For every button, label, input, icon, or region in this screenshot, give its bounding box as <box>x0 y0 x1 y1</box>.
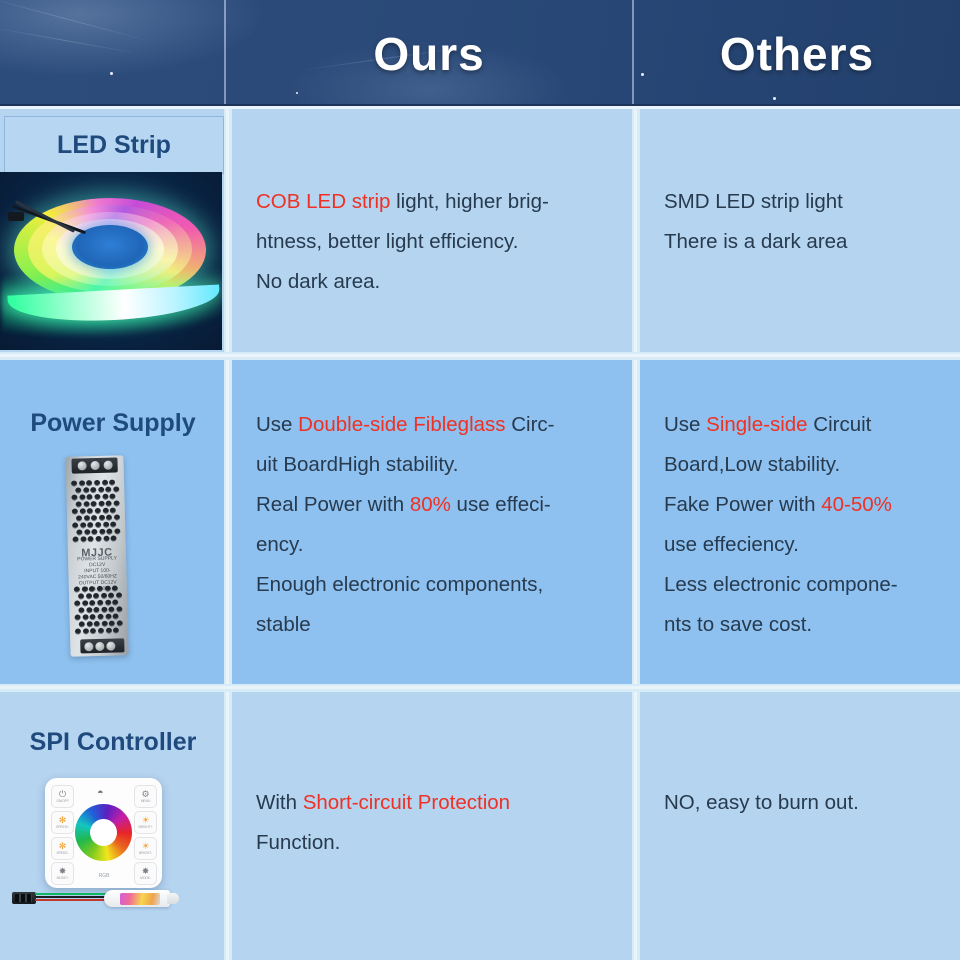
cob-led-strip-reel-photo <box>0 172 222 350</box>
text-line: htness, better light efficiency. <box>256 222 628 262</box>
psu-vent-hole <box>79 621 85 627</box>
header-cell-feature <box>0 0 224 108</box>
panel-button-mode-up[interactable]: ✸ MODE+ <box>51 862 74 885</box>
psu-vent-hole <box>71 480 77 486</box>
speed-icon: ✻ <box>59 842 67 851</box>
psu-vent-hole <box>99 515 105 521</box>
psu-vent-hole <box>102 494 108 500</box>
psu-screw <box>106 642 115 651</box>
psu-vent-hole <box>98 614 104 620</box>
psu-vent-hole <box>116 592 122 598</box>
psu-vent-hole <box>113 627 119 633</box>
panel-button-bright-up[interactable]: ☀ BRIGHT+ <box>134 811 157 834</box>
text-line: nts to save cost. <box>664 605 960 645</box>
psu-vent-hole <box>90 614 96 620</box>
wifi-icon: ◓ <box>97 788 104 799</box>
psu-input-terminal <box>71 457 117 473</box>
text-line: SMD LED strip light <box>664 182 956 222</box>
psu-vent-hole <box>98 487 104 493</box>
mini-controller-body <box>104 890 170 907</box>
psu-vent-hole <box>72 508 78 514</box>
psu-vent-hole <box>112 599 118 605</box>
psu-vent-hole <box>99 529 105 535</box>
psu-vent-hole <box>88 522 94 528</box>
psu-vent-top <box>71 479 120 544</box>
psu-screw <box>84 642 93 651</box>
psu-vent-hole <box>87 494 93 500</box>
psu-vent-hole <box>78 593 84 599</box>
header-ours-label: Ours <box>373 27 484 81</box>
wire-red <box>35 899 107 901</box>
psu-vent-hole <box>74 586 80 592</box>
rgb-wheel-label: RGB <box>89 873 119 879</box>
psu-vent-hole <box>105 614 111 620</box>
psu-vent-hole <box>75 614 81 620</box>
psu-vent-hole <box>112 585 118 591</box>
psu-vent-hole <box>80 522 86 528</box>
psu-vent-hole <box>95 508 101 514</box>
row-3-others-bg <box>640 692 960 960</box>
row-2-ours-text: Use Double-side Fibleglass Circ- uit Boa… <box>256 405 628 645</box>
psu-vent-hole <box>84 515 90 521</box>
psu-vent-hole <box>83 501 89 507</box>
psu-vent-hole <box>94 607 100 613</box>
mjjc-slim-power-supply-photo: MJJC POWER SUPPLY DC12V INPUT 100-240VAC… <box>65 455 128 656</box>
header-cell-others: Others <box>634 0 960 108</box>
header-others-label: Others <box>720 27 874 81</box>
psu-vent-hole <box>114 500 120 506</box>
psu-vent-hole <box>79 480 85 486</box>
wire-black <box>35 896 107 898</box>
row-label-spi-controller: SPI Controller <box>4 718 222 766</box>
text-line: Use Single-side Circuit <box>664 405 960 445</box>
row-label-text: LED Strip <box>57 131 171 160</box>
text-line: There is a dark area <box>664 222 956 262</box>
psu-vent-hole <box>72 522 78 528</box>
text-line: use effeciency. <box>664 525 960 565</box>
psu-vent-hole <box>106 501 112 507</box>
psu-vent-hole <box>98 628 104 634</box>
psu-vent-hole <box>109 607 115 613</box>
row-label-text: Power Supply <box>30 409 195 438</box>
comparison-table: Ours Others LED Strip COB LED stri <box>0 0 960 960</box>
psu-vent-hole <box>114 514 120 520</box>
psu-vent-hole <box>101 607 107 613</box>
psu-vent-hole <box>76 529 82 535</box>
psu-vent-hole <box>86 621 92 627</box>
psu-vent-hole <box>110 507 116 513</box>
text-line: No dark area. <box>256 262 628 302</box>
psu-vent-hole <box>86 480 92 486</box>
row-1-others-text: SMD LED strip light There is a dark area <box>664 182 956 262</box>
psu-vent-hole <box>90 628 96 634</box>
psu-vent-hole <box>110 521 116 527</box>
psu-vent-hole <box>91 501 97 507</box>
psu-vent-hole <box>104 586 110 592</box>
spi-rgb-touch-panel-and-inline-controller-photo: ◓ RGB ⏻ ON/OFF ⚙ MENU ✻ SPEED+ ☀ BRIGHT+… <box>0 770 222 960</box>
psu-vent-hole <box>75 628 81 634</box>
text-line: Enough electronic components, <box>256 565 628 605</box>
brightness-icon: ☀ <box>141 842 149 851</box>
psu-vent-hole <box>82 600 88 606</box>
row-label-power-supply: Power Supply <box>4 398 222 448</box>
psu-vent-hole <box>108 593 114 599</box>
psu-vent-hole <box>102 480 108 486</box>
psu-vent-hole <box>97 600 103 606</box>
mini-controller-tip <box>167 893 179 904</box>
row-2-others-text: Use Single-side Circuit Board,Low stabil… <box>664 405 960 645</box>
psu-vent-hole <box>86 593 92 599</box>
header-cell-ours: Ours <box>226 0 632 108</box>
psu-vent-hole <box>90 487 96 493</box>
psu-vent-hole <box>80 536 86 542</box>
gear-icon: ⚙ <box>141 790 149 799</box>
psu-vent-hole <box>110 493 116 499</box>
psu-vent-hole <box>106 487 112 493</box>
row-divider-2 <box>0 684 960 692</box>
psu-vent-hole <box>93 593 99 599</box>
spi-touch-panel: ◓ RGB ⏻ ON/OFF ⚙ MENU ✻ SPEED+ ☀ BRIGHT+… <box>45 778 162 888</box>
power-icon: ⏻ <box>59 790 66 799</box>
led-connector-plug <box>8 212 24 221</box>
psu-vent-hole <box>94 494 100 500</box>
connector-wires <box>35 893 107 903</box>
mode-icon: ✸ <box>142 867 150 876</box>
psu-vent-hole <box>72 494 78 500</box>
psu-vent-hole <box>89 586 95 592</box>
psu-vent-hole <box>76 501 82 507</box>
psu-vent-hole <box>94 480 100 486</box>
panel-button-bright-down[interactable]: ☀ BRIGHT- <box>134 837 157 860</box>
psu-vent-hole <box>73 536 79 542</box>
psu-vent-hole <box>74 600 80 606</box>
psu-screw <box>95 642 104 651</box>
text-line: Less electronic compone- <box>664 565 960 605</box>
psu-vent-hole <box>97 586 103 592</box>
psu-vent-hole <box>94 621 100 627</box>
psu-vent-hole <box>102 508 108 514</box>
row-3-others-text: NO, easy to burn out. <box>664 783 956 823</box>
psu-vent-hole <box>95 522 101 528</box>
psu-screw <box>78 461 87 470</box>
psu-vent-hole <box>82 586 88 592</box>
psu-vent-hole <box>111 535 117 541</box>
psu-vent-hole <box>105 600 111 606</box>
table-header: Ours Others <box>0 0 960 108</box>
psu-screw <box>91 461 100 470</box>
psu-screw <box>104 461 113 470</box>
psu-vent-hole <box>91 515 97 521</box>
psu-vent-hole <box>92 529 98 535</box>
psu-vent-hole <box>76 515 82 521</box>
psu-vent-hole <box>116 606 122 612</box>
psu-vent-hole <box>95 536 101 542</box>
text-line: uit BoardHigh stability. <box>256 445 628 485</box>
psu-output-terminal <box>80 638 124 653</box>
rgb-color-wheel[interactable] <box>75 804 132 861</box>
psu-vent-hole <box>113 486 119 492</box>
row-divider-1 <box>0 352 960 360</box>
mode-icon: ✸ <box>59 867 67 876</box>
psu-vent-hole <box>86 607 92 613</box>
text-line: COB LED strip light, higher brig- <box>256 182 628 222</box>
psu-vent-hole <box>113 613 119 619</box>
psu-vent-hole <box>87 508 93 514</box>
wire-green <box>35 893 107 895</box>
psu-vent-hole <box>80 508 86 514</box>
text-line: Function. <box>256 823 628 863</box>
jst-connector <box>12 892 36 904</box>
text-line: NO, easy to burn out. <box>664 783 956 823</box>
psu-vent-hole <box>90 600 96 606</box>
text-line: With Short-circuit Protection <box>256 783 628 823</box>
panel-button-on-off[interactable]: ⏻ ON/OFF <box>51 785 74 808</box>
psu-vent-bottom <box>74 585 123 636</box>
text-line: stable <box>256 605 628 645</box>
psu-vent-hole <box>88 536 94 542</box>
psu-vent-hole <box>106 515 112 521</box>
column-divider-1 <box>224 108 232 960</box>
led-reel <box>8 194 214 326</box>
psu-vent-hole <box>105 628 111 634</box>
psu-vent-hole <box>98 501 104 507</box>
text-line: Real Power with 80% use effeci- <box>256 485 628 525</box>
text-line: ency. <box>256 525 628 565</box>
inline-mini-spi-controller <box>12 890 192 908</box>
text-line: Use Double-side Fibleglass Circ- <box>256 405 628 445</box>
psu-vent-hole <box>107 529 113 535</box>
psu-vent-hole <box>83 487 89 493</box>
header-bottom-rule <box>0 104 960 109</box>
psu-vent-hole <box>102 621 108 627</box>
panel-button-speed-down[interactable]: ✻ SPEED- <box>51 837 74 860</box>
row-3-ours-text: With Short-circuit Protection Function. <box>256 783 628 863</box>
psu-vent-hole <box>78 607 84 613</box>
psu-vent-hole <box>117 620 123 626</box>
psu-vent-hole <box>101 593 107 599</box>
psu-vent-hole <box>75 487 81 493</box>
psu-vent-hole <box>84 529 90 535</box>
panel-button-mode-down[interactable]: ✸ MODE- <box>134 862 157 885</box>
row-label-text: SPI Controller <box>30 728 197 757</box>
panel-button-speed-up[interactable]: ✻ SPEED+ <box>51 811 74 834</box>
row-label-led-strip: LED Strip <box>4 116 224 174</box>
psu-vent-hole <box>103 536 109 542</box>
text-line: Board,Low stability. <box>664 445 960 485</box>
psu-vent-hole <box>109 479 115 485</box>
psu-vent-hole <box>114 528 120 534</box>
psu-vent-hole <box>79 494 85 500</box>
psu-vent-hole <box>82 614 88 620</box>
panel-button-menu[interactable]: ⚙ MENU <box>134 785 157 808</box>
psu-vent-hole <box>109 621 115 627</box>
brightness-icon: ☀ <box>141 816 149 825</box>
psu-vent-hole <box>103 522 109 528</box>
speed-icon: ✻ <box>59 816 67 825</box>
psu-vent-hole <box>83 628 89 634</box>
text-line: Fake Power with 40-50% <box>664 485 960 525</box>
column-divider-2 <box>632 108 640 960</box>
row-1-ours-text: COB LED strip light, higher brig- htness… <box>256 182 628 302</box>
